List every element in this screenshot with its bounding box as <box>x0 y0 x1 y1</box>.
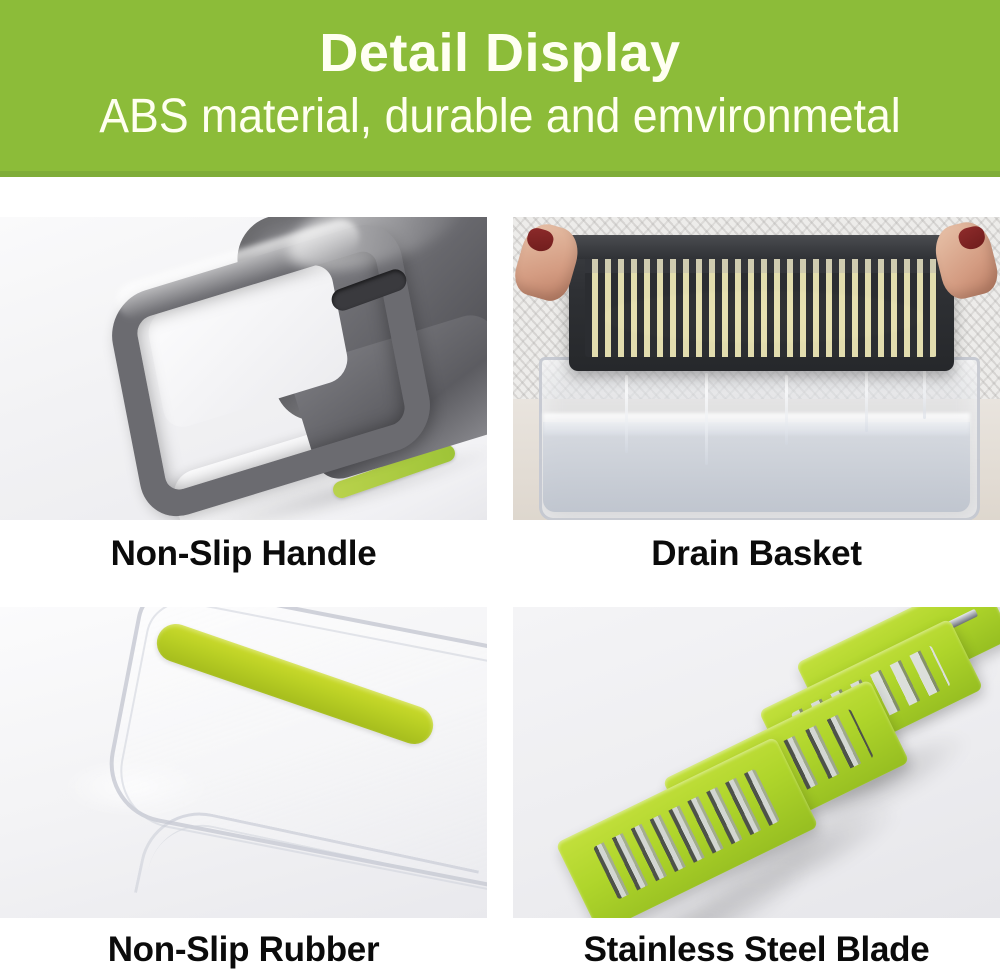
basket-rim <box>561 235 961 259</box>
caption-stainless-steel-blade: Stainless Steel Blade <box>513 930 1000 970</box>
caption-non-slip-rubber: Non-Slip Rubber <box>0 930 487 970</box>
photo-non-slip-handle <box>0 217 487 520</box>
water-drip <box>625 375 628 453</box>
water-drip <box>923 369 926 419</box>
panel-non-slip-handle <box>0 217 487 520</box>
caption-drain-basket: Drain Basket <box>513 534 1000 574</box>
header-banner: Detail Display ABS material, durable and… <box>0 0 1000 177</box>
caption-non-slip-handle: Non-Slip Handle <box>0 534 487 574</box>
water-drip <box>705 373 708 465</box>
water <box>543 422 970 512</box>
basket-slots <box>585 271 937 357</box>
photo-drain-basket <box>513 217 1000 520</box>
panel-stainless-steel-blade <box>513 607 1000 918</box>
water-surface <box>543 413 970 435</box>
basket-slot-teeth <box>585 257 937 273</box>
page-title: Detail Display <box>0 22 1000 84</box>
banner-underline <box>0 171 1000 177</box>
water-drip <box>785 375 788 445</box>
water-drip <box>865 372 868 432</box>
page-subtitle: ABS material, durable and emvironmetal <box>35 88 965 146</box>
photo-non-slip-rubber <box>0 607 487 918</box>
panel-non-slip-rubber <box>0 607 487 918</box>
photo-stainless-steel-blade <box>513 607 1000 918</box>
panel-drain-basket <box>513 217 1000 520</box>
